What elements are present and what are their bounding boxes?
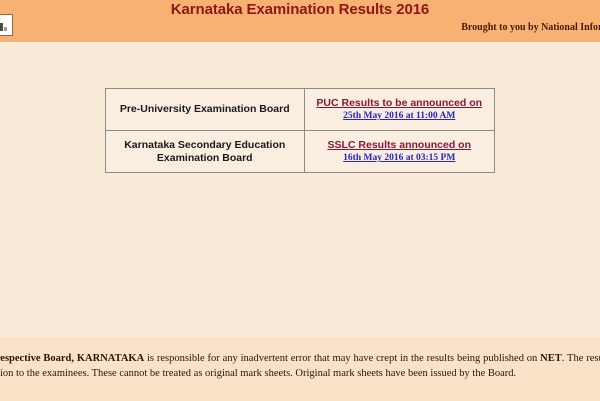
page-title: Karnataka Examination Results 2016 — [0, 1, 600, 18]
board-name-cell: Pre-University Examination Board — [106, 89, 305, 131]
result-link-cell[interactable]: SSLC Results announced on 16th May 2016 … — [304, 131, 495, 173]
brought-to-you-by-text: Brought to you by National Informatics C… — [461, 22, 600, 33]
table-row: Pre-University Examination Board PUC Res… — [106, 89, 495, 131]
disclaimer-net: NET — [540, 353, 562, 364]
table-row: Karnataka Secondary Education Examinatio… — [106, 131, 495, 173]
disclaimer-middle: is responsible for any inadvertent error… — [144, 353, 540, 364]
disclaimer-prefix: Neither NIC nor the respective Board, — [0, 353, 77, 364]
sslc-result-headline-link[interactable]: SSLC Results announced on — [309, 139, 491, 152]
result-link-cell[interactable]: PUC Results to be announced on 25th May … — [304, 89, 495, 131]
page-header: Karnataka Examination Results 2016 Broug… — [0, 0, 600, 42]
board-name-cell: Karnataka Secondary Education Examinatio… — [106, 131, 305, 173]
disclaimer-text: Neither NIC nor the respective Board, KA… — [0, 351, 600, 381]
main-content: Pre-University Examination Board PUC Res… — [0, 42, 600, 338]
puc-result-headline-link[interactable]: PUC Results to be announced on — [309, 97, 491, 110]
page-footer: Neither NIC nor the respective Board, KA… — [0, 338, 600, 401]
puc-result-date-link[interactable]: 25th May 2016 at 11:00 AM — [309, 110, 491, 122]
disclaimer-board-name: KARNATAKA — [77, 353, 144, 364]
sslc-result-date-link[interactable]: 16th May 2016 at 03:15 PM — [309, 152, 491, 164]
results-table: Pre-University Examination Board PUC Res… — [105, 88, 495, 173]
